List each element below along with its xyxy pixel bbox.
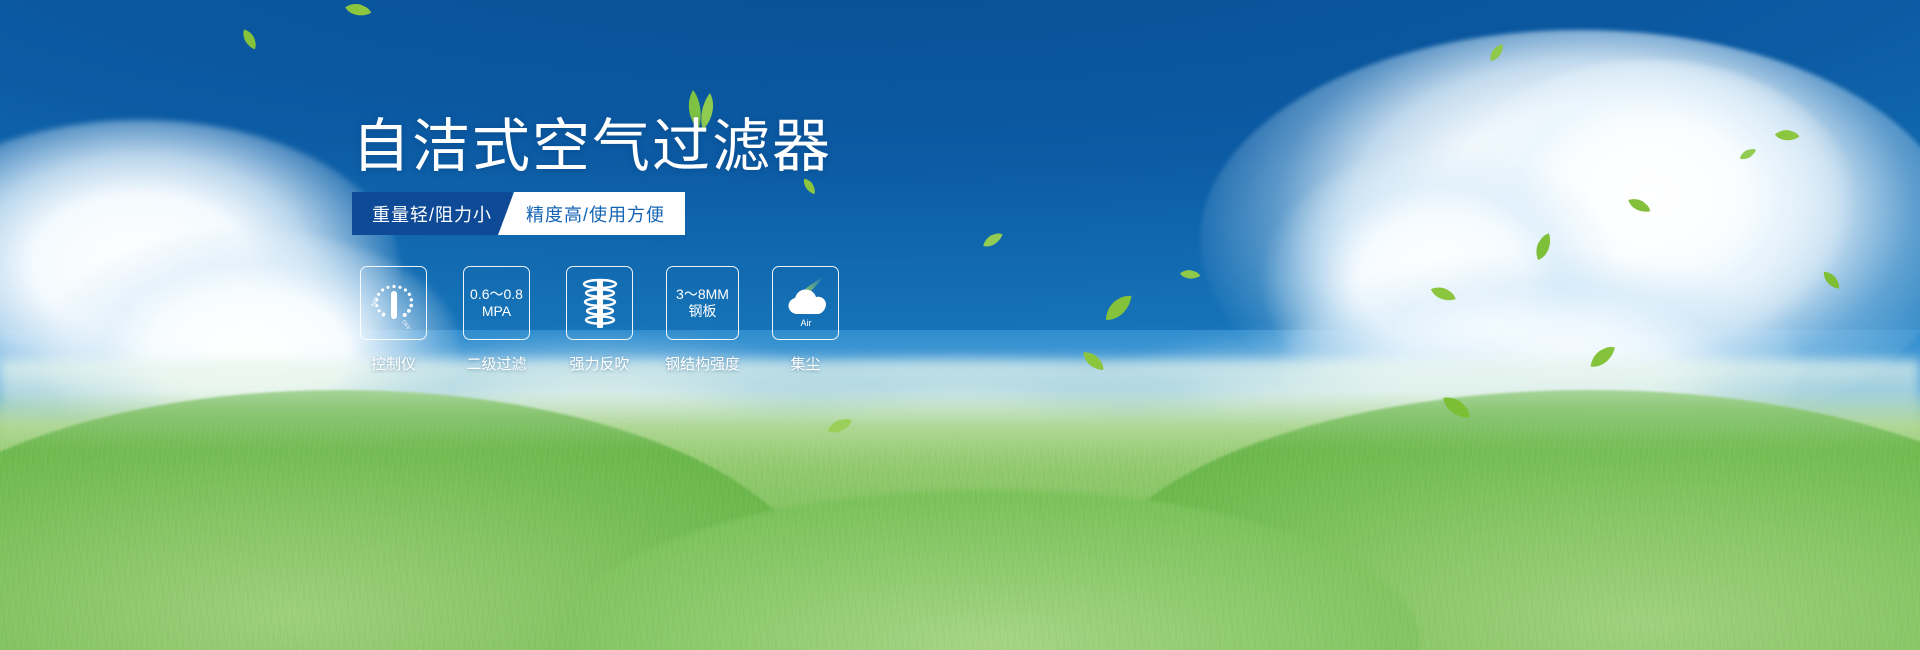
page-title: 自洁式空气过滤器 bbox=[352, 118, 832, 176]
feature-caption-backblow: 强力反吹 bbox=[569, 353, 629, 374]
banner-content: 自洁式空气过滤器 重量轻/阻力小 精度高/使用方便 bbox=[0, 0, 1920, 650]
svg-text:NO: NO bbox=[370, 296, 381, 308]
feature-box-controller: NO OFF bbox=[360, 266, 427, 340]
air-cloud-icon: Air bbox=[780, 276, 832, 330]
tab-weight-resistance[interactable]: 重量轻/阻力小 bbox=[352, 192, 512, 235]
feature-item-controller[interactable]: NO OFF 控制仪 bbox=[352, 266, 435, 374]
feature-box-steel: 3～8MM 钢板 bbox=[666, 266, 739, 340]
pressure-unit-text: MPA bbox=[482, 303, 511, 321]
feature-item-dust[interactable]: Air 集尘 bbox=[764, 266, 847, 374]
svg-text:OFF: OFF bbox=[400, 319, 411, 329]
feature-caption-steel: 钢结构强度 bbox=[665, 353, 740, 374]
product-banner: 自洁式空气过滤器 重量轻/阻力小 精度高/使用方便 bbox=[0, 0, 1920, 650]
feature-caption-dust: 集尘 bbox=[790, 353, 820, 374]
feature-caption-controller: 控制仪 bbox=[371, 353, 416, 374]
tab-precision-convenience[interactable]: 精度高/使用方便 bbox=[498, 192, 685, 235]
feature-box-pressure: 0.6～0.8 MPA bbox=[463, 266, 530, 340]
feature-box-dust: Air bbox=[772, 266, 839, 340]
feature-item-steel[interactable]: 3～8MM 钢板 钢结构强度 bbox=[661, 266, 744, 374]
air-label: Air bbox=[800, 318, 811, 328]
steel-thickness-text: 3～8MM bbox=[676, 286, 729, 304]
pressure-range-text: 0.6～0.8 bbox=[470, 286, 523, 304]
coil-spring-icon bbox=[577, 276, 623, 330]
steel-plate-text: 钢板 bbox=[689, 303, 717, 321]
feature-caption-pressure: 二级过滤 bbox=[466, 353, 526, 374]
feature-icon-list: NO OFF 控制仪 0.6～0.8 MPA 二级过滤 bbox=[352, 266, 847, 374]
feature-box-backblow bbox=[566, 266, 633, 340]
feature-item-backblow[interactable]: 强力反吹 bbox=[558, 266, 641, 374]
feature-item-pressure[interactable]: 0.6～0.8 MPA 二级过滤 bbox=[455, 266, 538, 374]
control-dial-icon: NO OFF bbox=[369, 277, 419, 329]
feature-tabs: 重量轻/阻力小 精度高/使用方便 bbox=[352, 192, 685, 235]
